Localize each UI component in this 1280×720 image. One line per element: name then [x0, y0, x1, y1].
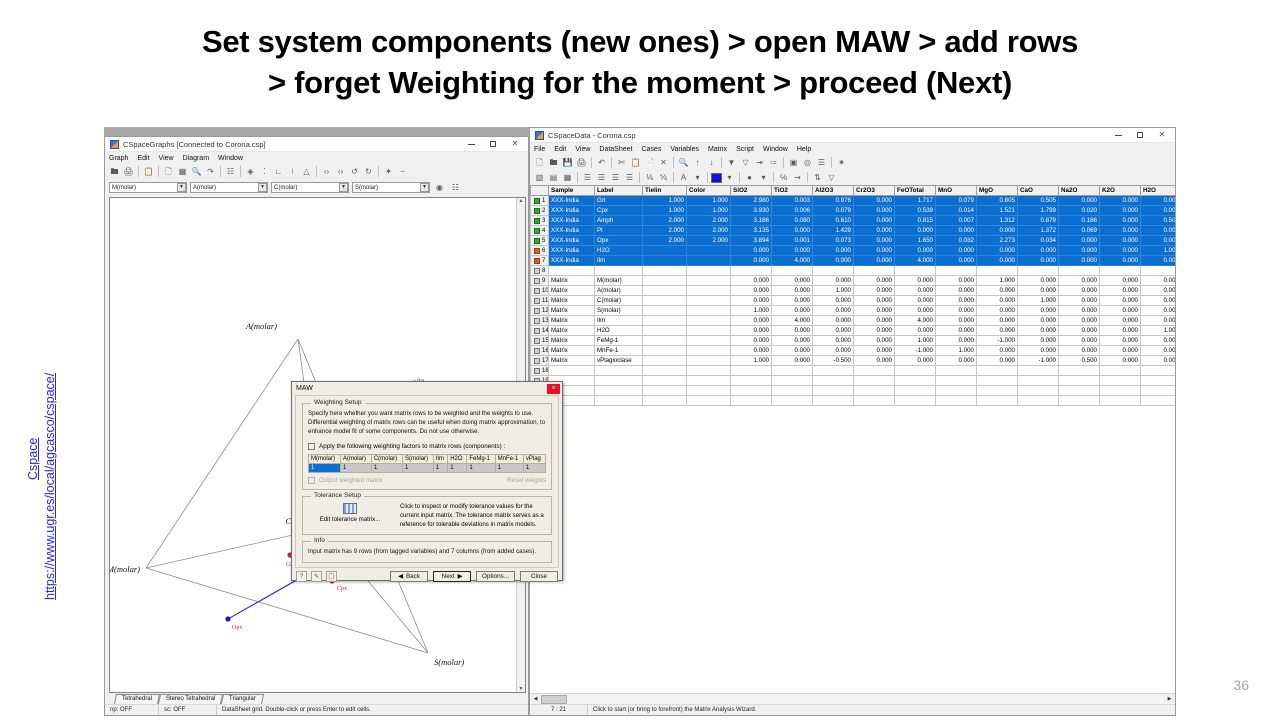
cell-value-5[interactable]: 0.000: [936, 326, 977, 336]
cell-value-7[interactable]: 0.000: [1018, 276, 1059, 286]
menu-edit[interactable]: Edit: [137, 155, 149, 162]
cell-value-1[interactable]: 0.000: [772, 276, 813, 286]
cell-value-1[interactable]: 4.000: [772, 256, 813, 266]
cell-value-5[interactable]: 0.000: [936, 306, 977, 316]
cell-value-2[interactable]: [813, 396, 854, 406]
tab-triangular[interactable]: Triangular: [221, 694, 264, 704]
open-icon[interactable]: 🖿: [547, 156, 560, 169]
cell-value-10[interactable]: [1141, 366, 1176, 376]
cell-value-6[interactable]: [977, 376, 1018, 386]
table-row[interactable]: 14MatrixH2O0.0000.0000.0000.0000.0000.00…: [531, 326, 1176, 336]
cell-value-8[interactable]: 0.000: [1059, 306, 1100, 316]
cell-value-8[interactable]: 0.000: [1059, 236, 1100, 246]
cell-value-4[interactable]: 4.000: [895, 256, 936, 266]
cell-sample[interactable]: Matrix: [549, 296, 595, 306]
cell-value-3[interactable]: 0.000: [854, 326, 895, 336]
cspacegraphs-toolbar[interactable]: 🖿 🖨 📋 🗋 ▦ 🔍 ↷ ☷ ◈ ⁚ ∟ ⁝ △ ‹› ‹› ↺ ↻ ✦ −: [105, 164, 528, 179]
cell-value-3[interactable]: 0.000: [854, 276, 895, 286]
col-cao[interactable]: CaO: [1018, 186, 1059, 196]
menu-script[interactable]: Script: [736, 146, 754, 153]
row-header[interactable]: 17: [531, 356, 549, 366]
col-sio2[interactable]: SiO2: [731, 186, 772, 196]
cspacedata-toolbar-row1[interactable]: 🗋 🖿 💾 🖨 ↶ ✄ 📋 📄 ✕ 🔍 ↑ ↓ ▼ ▽ ⇥ ⇨ ▣ ◎ ☰: [530, 155, 1175, 170]
cell-tielin[interactable]: [643, 366, 687, 376]
cell-color[interactable]: [687, 306, 731, 316]
table-row[interactable]: 7XXX-IndiaIlm0.0004.0000.0000.0004.0000.…: [531, 256, 1176, 266]
cell-tielin[interactable]: [643, 266, 687, 276]
cell-value-4[interactable]: 0.815: [895, 216, 936, 226]
menu-cases[interactable]: Cases: [641, 146, 661, 153]
cell-value-8[interactable]: [1059, 376, 1100, 386]
table-row[interactable]: 17MatrixvPlagioclase1.0000.000-0.5000.00…: [531, 356, 1176, 366]
cell-value-2[interactable]: 0.079: [813, 206, 854, 216]
cell-sample[interactable]: Matrix: [549, 276, 595, 286]
cell-value-5[interactable]: 0.014: [936, 206, 977, 216]
page-icon[interactable]: 🗋: [162, 165, 175, 178]
cell-value-1[interactable]: 0.000: [772, 226, 813, 236]
cell-label[interactable]: [595, 396, 643, 406]
cell-value-1[interactable]: [772, 376, 813, 386]
cell-value-6[interactable]: -1.000: [977, 336, 1018, 346]
table-row[interactable]: 18: [531, 366, 1176, 376]
weights-value-row[interactable]: 111111111: [309, 463, 546, 472]
cell-color[interactable]: [687, 386, 731, 396]
back-button[interactable]: ◀ Back: [390, 571, 428, 582]
transpose-icon[interactable]: ⇝: [791, 171, 804, 184]
cell-sample[interactable]: Matrix: [549, 306, 595, 316]
cell-value-6[interactable]: 0.000: [977, 306, 1018, 316]
cell-value-9[interactable]: [1100, 376, 1141, 386]
fill-color-swatch[interactable]: [711, 173, 722, 183]
points-icon[interactable]: ⁚: [258, 165, 271, 178]
cell-value-6[interactable]: 0.000: [977, 246, 1018, 256]
cell-value-3[interactable]: 0.000: [854, 206, 895, 216]
cell-value-5[interactable]: [936, 386, 977, 396]
cell-sample[interactable]: XXX-India: [549, 236, 595, 246]
cell-color[interactable]: [687, 286, 731, 296]
cell-value-3[interactable]: [854, 396, 895, 406]
cell-value-6[interactable]: 1.312: [977, 216, 1018, 226]
cell-value-6[interactable]: 2.273: [977, 236, 1018, 246]
cell-value-2[interactable]: 0.000: [813, 346, 854, 356]
cell-tielin[interactable]: [643, 376, 687, 386]
scroll-down-icon[interactable]: ▼: [519, 686, 524, 692]
projection-icon[interactable]: ◈: [244, 165, 257, 178]
cell-color[interactable]: [687, 356, 731, 366]
sort-desc-icon[interactable]: ↓: [705, 156, 718, 169]
output-weighted-row[interactable]: Output weighted matrix Reset weights: [308, 477, 546, 484]
cell-value-0[interactable]: 0.000: [731, 276, 772, 286]
cell-value-6[interactable]: 0.000: [977, 226, 1018, 236]
cell-value-4[interactable]: 0.000: [895, 246, 936, 256]
chevron-down-icon[interactable]: ▼: [420, 183, 429, 192]
col-label[interactable]: Label: [595, 186, 643, 196]
row-header[interactable]: 14: [531, 326, 549, 336]
cell-value-8[interactable]: 0.000: [1059, 256, 1100, 266]
cell-value-3[interactable]: [854, 386, 895, 396]
cell-value-4[interactable]: -1.000: [895, 346, 936, 356]
cspacedata-toolbar-row2[interactable]: ▧ ▤ ▦ ☰ ☰ ☰ ☰ ⅙ ⅚ A ▾ ▾ ● ▾ ℅ ⇝ ⇅ ▽: [530, 170, 1175, 185]
cell-value-5[interactable]: 0.079: [936, 196, 977, 206]
table-row[interactable]: 21: [531, 396, 1176, 406]
maw-wizard-icon[interactable]: ◎: [801, 156, 814, 169]
diagram-tabstrip[interactable]: Tetrahedral Stereo Tetrahedral Triangula…: [105, 693, 528, 704]
cell-value-7[interactable]: 0.000: [1018, 256, 1059, 266]
cell-value-1[interactable]: 0.000: [772, 286, 813, 296]
chevron-down-icon[interactable]: ▼: [258, 183, 267, 192]
cell-value-6[interactable]: 1.000: [977, 276, 1018, 286]
align-justify-icon[interactable]: ☰: [623, 171, 636, 184]
combo-m-molar[interactable]: M(molar) ▼: [109, 182, 187, 193]
cell-value-8[interactable]: [1059, 266, 1100, 276]
edit-tolerance-button[interactable]: Edit tolerance matrix...: [308, 503, 392, 523]
cell-value-2[interactable]: 0.000: [813, 326, 854, 336]
cell-color[interactable]: 2.000: [687, 236, 731, 246]
settings-icon[interactable]: ✎: [311, 571, 322, 582]
rotate-right-icon[interactable]: ‹›: [334, 165, 347, 178]
cell-value-4[interactable]: 1.717: [895, 196, 936, 206]
fit-icon[interactable]: ☷: [224, 165, 237, 178]
row-header[interactable]: 4: [531, 226, 549, 236]
cell-label[interactable]: Cpx: [595, 206, 643, 216]
cell-value-7[interactable]: 1.000: [1018, 296, 1059, 306]
cell-value-1[interactable]: 0.000: [772, 336, 813, 346]
cell-value-2[interactable]: 0.610: [813, 216, 854, 226]
cell-value-3[interactable]: 0.000: [854, 246, 895, 256]
cell-value-2[interactable]: 0.000: [813, 316, 854, 326]
matrix-icon[interactable]: ▣: [787, 156, 800, 169]
cell-value-6[interactable]: [977, 386, 1018, 396]
row-header[interactable]: 15: [531, 336, 549, 346]
cell-value-1[interactable]: 0.000: [772, 246, 813, 256]
cell-value-6[interactable]: 0.000: [977, 326, 1018, 336]
cell-value-0[interactable]: [731, 366, 772, 376]
print-icon[interactable]: 🖨: [122, 165, 135, 178]
cell-value-7[interactable]: 1.799: [1018, 206, 1059, 216]
cell-value-4[interactable]: 4.000: [895, 316, 936, 326]
cell-value-7[interactable]: [1018, 376, 1059, 386]
row-header[interactable]: 18: [531, 366, 549, 376]
cell-value-5[interactable]: 0.000: [936, 316, 977, 326]
menu-view[interactable]: View: [159, 155, 174, 162]
cell-sample[interactable]: Matrix: [549, 336, 595, 346]
new-icon[interactable]: 🗋: [533, 156, 546, 169]
scroll-left-icon[interactable]: ◀: [530, 695, 541, 704]
cell-label[interactable]: A(molar): [595, 286, 643, 296]
cell-label[interactable]: C(molar): [595, 296, 643, 306]
table-row[interactable]: 5XXX-IndiaOpx2.0002.0003.8940.0010.0730.…: [531, 236, 1176, 246]
copy-icon[interactable]: 📋: [326, 571, 337, 582]
combo-c-molar[interactable]: C(molar) ▼: [271, 182, 349, 193]
cell-value-1[interactable]: [772, 366, 813, 376]
cell-value-5[interactable]: 0.000: [936, 336, 977, 346]
menu-diagram[interactable]: Diagram: [183, 155, 209, 162]
cell-value-9[interactable]: 0.000: [1100, 286, 1141, 296]
cell-value-7[interactable]: [1018, 266, 1059, 276]
cell-value-0[interactable]: [731, 396, 772, 406]
undo-icon[interactable]: ↷: [204, 165, 217, 178]
cell-label[interactable]: [595, 386, 643, 396]
weight-value-7[interactable]: 1: [495, 463, 523, 472]
cell-value-7[interactable]: [1018, 396, 1059, 406]
apply-weights-checkbox[interactable]: [308, 443, 315, 450]
font-icon[interactable]: A: [677, 171, 690, 184]
insert-col-icon[interactable]: ⇥: [753, 156, 766, 169]
cell-value-3[interactable]: 0.000: [854, 306, 895, 316]
cell-value-9[interactable]: 0.000: [1100, 206, 1141, 216]
cell-sample[interactable]: [549, 266, 595, 276]
cell-value-1[interactable]: 0.006: [772, 206, 813, 216]
help-icon[interactable]: ?: [296, 571, 307, 582]
cell-label[interactable]: [595, 266, 643, 276]
cell-color[interactable]: [687, 346, 731, 356]
chevron-down-icon[interactable]: ▼: [339, 183, 348, 192]
cell-value-4[interactable]: [895, 376, 936, 386]
cell-value-8[interactable]: 0.020: [1059, 206, 1100, 216]
cell-value-3[interactable]: 0.000: [854, 346, 895, 356]
datasheet-horizontal-scrollbar[interactable]: ◀ ▶: [530, 693, 1175, 704]
cell-value-0[interactable]: 1.000: [731, 306, 772, 316]
cell-value-3[interactable]: 0.000: [854, 196, 895, 206]
cell-value-4[interactable]: [895, 396, 936, 406]
menu-graph[interactable]: Graph: [109, 155, 128, 162]
cell-value-3[interactable]: 0.000: [854, 296, 895, 306]
cell-value-9[interactable]: [1100, 386, 1141, 396]
cell-sample[interactable]: Matrix: [549, 356, 595, 366]
cell-value-7[interactable]: 0.000: [1018, 316, 1059, 326]
cell-color[interactable]: [687, 366, 731, 376]
cell-value-0[interactable]: 0.000: [731, 316, 772, 326]
table-row[interactable]: 13MatrixIlm0.0004.0000.0000.0004.0000.00…: [531, 316, 1176, 326]
cell-value-7[interactable]: 0.000: [1018, 286, 1059, 296]
scroll-up-icon[interactable]: ▲: [519, 198, 524, 204]
cell-value-5[interactable]: 0.000: [936, 286, 977, 296]
menu-file[interactable]: File: [534, 146, 545, 153]
cell-sample[interactable]: Matrix: [549, 316, 595, 326]
open-icon[interactable]: 🖿: [108, 165, 121, 178]
cell-value-9[interactable]: 0.000: [1100, 226, 1141, 236]
cell-value-9[interactable]: [1100, 366, 1141, 376]
cell-tielin[interactable]: [643, 276, 687, 286]
row-header[interactable]: 1: [531, 196, 549, 206]
cell-label[interactable]: Ilm: [595, 256, 643, 266]
cell-value-0[interactable]: 1.000: [731, 356, 772, 366]
cell-value-2[interactable]: [813, 376, 854, 386]
filter-icon[interactable]: ▼: [725, 156, 738, 169]
cell-value-6[interactable]: 0.000: [977, 286, 1018, 296]
cell-value-6[interactable]: 0.000: [977, 256, 1018, 266]
col-cr2o3[interactable]: Cr2O3: [854, 186, 895, 196]
cell-sample[interactable]: XXX-India: [549, 206, 595, 216]
cell-value-8[interactable]: [1059, 386, 1100, 396]
cell-value-5[interactable]: [936, 396, 977, 406]
cell-value-3[interactable]: 0.000: [854, 236, 895, 246]
cell-value-0[interactable]: 0.000: [731, 296, 772, 306]
print-icon[interactable]: 🖨: [575, 156, 588, 169]
cell-value-10[interactable]: 0.000: [1141, 316, 1176, 326]
cell-value-4[interactable]: 1.650: [895, 236, 936, 246]
cell-value-8[interactable]: [1059, 396, 1100, 406]
save-icon[interactable]: 💾: [561, 156, 574, 169]
cell-value-5[interactable]: 0.000: [936, 246, 977, 256]
cell-value-8[interactable]: 0.000: [1059, 246, 1100, 256]
rotate-left-icon[interactable]: ‹›: [320, 165, 333, 178]
cell-value-0[interactable]: [731, 376, 772, 386]
col-color[interactable]: Color: [687, 186, 731, 196]
cell-value-7[interactable]: -1.000: [1018, 356, 1059, 366]
cell-value-0[interactable]: 3.166: [731, 216, 772, 226]
cell-value-10[interactable]: 0.000: [1141, 236, 1176, 246]
cell-value-1[interactable]: 0.000: [772, 356, 813, 366]
cell-value-8[interactable]: 0.166: [1059, 216, 1100, 226]
cell-value-7[interactable]: 0.000: [1018, 326, 1059, 336]
cell-value-5[interactable]: 0.000: [936, 356, 977, 366]
cell-value-3[interactable]: [854, 366, 895, 376]
cell-value-4[interactable]: [895, 386, 936, 396]
cell-value-10[interactable]: 0.000: [1141, 336, 1176, 346]
filter-clear-icon[interactable]: ▽: [739, 156, 752, 169]
cell-value-2[interactable]: 1.429: [813, 226, 854, 236]
row-header[interactable]: 13: [531, 316, 549, 326]
cell-label[interactable]: M(molar): [595, 276, 643, 286]
menu-help[interactable]: Help: [797, 146, 811, 153]
tilt-up-icon[interactable]: ↺: [348, 165, 361, 178]
cell-value-1[interactable]: 0.001: [772, 236, 813, 246]
cell-label[interactable]: MnFe-1: [595, 346, 643, 356]
cell-tielin[interactable]: [643, 256, 687, 266]
datasheet-grid[interactable]: Sample Label Tielin Color SiO2 TiO2 Al2O…: [530, 185, 1175, 693]
cell-value-1[interactable]: 0.080: [772, 216, 813, 226]
copy-icon[interactable]: 📋: [142, 165, 155, 178]
cell-label[interactable]: [595, 376, 643, 386]
sort-asc-icon[interactable]: ↑: [691, 156, 704, 169]
decimal-increase-icon[interactable]: ⅙: [643, 171, 656, 184]
row-header[interactable]: 12: [531, 306, 549, 316]
cell-value-9[interactable]: [1100, 396, 1141, 406]
align-center-icon[interactable]: ☰: [595, 171, 608, 184]
cspace-url-link[interactable]: https://www.ugr.es/local/agcasco/cspace/: [43, 373, 57, 600]
cell-value-7[interactable]: 0.000: [1018, 246, 1059, 256]
cell-tielin[interactable]: [643, 336, 687, 346]
cell-value-0[interactable]: 0.000: [731, 286, 772, 296]
cell-value-10[interactable]: 0.000: [1141, 276, 1176, 286]
weights-table[interactable]: M(molar)A(molar)C(molar)S(molar)IlmH2OFe…: [308, 454, 546, 473]
weight-value-5[interactable]: 1: [448, 463, 467, 472]
cell-value-1[interactable]: 0.000: [772, 296, 813, 306]
marker-size-icon[interactable]: ●: [743, 171, 756, 184]
cell-value-0[interactable]: 0.000: [731, 246, 772, 256]
cell-tielin[interactable]: [643, 356, 687, 366]
cell-value-5[interactable]: 1.000: [936, 346, 977, 356]
cell-value-6[interactable]: [977, 266, 1018, 276]
cell-tielin[interactable]: [643, 246, 687, 256]
script-icon[interactable]: ⁕: [835, 156, 848, 169]
columns-icon[interactable]: ▦: [561, 171, 574, 184]
weight-value-3[interactable]: 1: [403, 463, 434, 472]
cell-color[interactable]: [687, 336, 731, 346]
cell-value-3[interactable]: 0.000: [854, 316, 895, 326]
cell-color[interactable]: 2.000: [687, 226, 731, 236]
cell-value-9[interactable]: 0.000: [1100, 326, 1141, 336]
cell-tielin[interactable]: [643, 316, 687, 326]
hscroll-thumb[interactable]: [541, 695, 567, 704]
cell-value-10[interactable]: 0.000: [1141, 356, 1176, 366]
cell-value-9[interactable]: 0.000: [1100, 216, 1141, 226]
cell-value-0[interactable]: 0.000: [731, 326, 772, 336]
minimize-button[interactable]: [460, 137, 482, 151]
cspacegraphs-menubar[interactable]: Graph Edit View Diagram Window: [105, 152, 528, 164]
cell-value-9[interactable]: 0.000: [1100, 196, 1141, 206]
cell-tielin[interactable]: 2.000: [643, 236, 687, 246]
cell-value-6[interactable]: 0.000: [977, 356, 1018, 366]
close-icon[interactable]: ×: [547, 384, 560, 394]
cell-value-7[interactable]: [1018, 366, 1059, 376]
cell-tielin[interactable]: [643, 296, 687, 306]
cell-value-8[interactable]: 0.000: [1059, 276, 1100, 286]
reset-weights-button[interactable]: Reset weights: [507, 477, 546, 484]
col-mno[interactable]: MnO: [936, 186, 977, 196]
row-header[interactable]: 9: [531, 276, 549, 286]
cell-value-10[interactable]: 1.000: [1141, 246, 1176, 256]
cell-value-8[interactable]: 0.000: [1059, 316, 1100, 326]
close-icon[interactable]: ✕: [1151, 128, 1173, 142]
table-row[interactable]: 2XXX-IndiaCpx1.0001.0003.9300.0060.0790.…: [531, 206, 1176, 216]
col-sample[interactable]: Sample: [549, 186, 595, 196]
cell-value-4[interactable]: 0.000: [895, 226, 936, 236]
cell-value-0[interactable]: [731, 266, 772, 276]
tab-tetrahedral[interactable]: Tetrahedral: [114, 694, 160, 704]
cell-label[interactable]: Ilm: [595, 316, 643, 326]
cell-value-9[interactable]: 0.000: [1100, 256, 1141, 266]
cell-value-9[interactable]: 0.000: [1100, 276, 1141, 286]
cell-value-1[interactable]: 0.000: [772, 326, 813, 336]
cell-sample[interactable]: XXX-India: [549, 226, 595, 236]
table-row[interactable]: 10MatrixA(molar)0.0000.0001.0000.0000.00…: [531, 286, 1176, 296]
cell-value-9[interactable]: 0.000: [1100, 306, 1141, 316]
cell-value-10[interactable]: 0.000: [1141, 226, 1176, 236]
cell-value-2[interactable]: 0.073: [813, 236, 854, 246]
hscroll-track[interactable]: [541, 695, 1164, 704]
cell-value-3[interactable]: 0.000: [854, 216, 895, 226]
cell-color[interactable]: [687, 376, 731, 386]
cell-label[interactable]: vPlagioclase: [595, 356, 643, 366]
marker-icon[interactable]: ✦: [382, 165, 395, 178]
cell-value-9[interactable]: 0.000: [1100, 296, 1141, 306]
cell-value-2[interactable]: 0.000: [813, 306, 854, 316]
cell-color[interactable]: [687, 256, 731, 266]
align-left-icon[interactable]: ☰: [581, 171, 594, 184]
cell-value-6[interactable]: 0.000: [977, 346, 1018, 356]
cell-value-2[interactable]: -0.500: [813, 356, 854, 366]
cell-sample[interactable]: [549, 366, 595, 376]
cell-value-9[interactable]: 0.000: [1100, 336, 1141, 346]
combo-a-molar[interactable]: A(molar) ▼: [190, 182, 268, 193]
cell-label[interactable]: [595, 366, 643, 376]
row-header[interactable]: 6: [531, 246, 549, 256]
cell-tielin[interactable]: 1.000: [643, 196, 687, 206]
row-header[interactable]: 3: [531, 216, 549, 226]
menu-matrix[interactable]: Matrix: [708, 146, 727, 153]
cell-value-0[interactable]: 2.980: [731, 196, 772, 206]
table-row[interactable]: 9MatrixM(molar)0.0000.0000.0000.0000.000…: [531, 276, 1176, 286]
cell-value-2[interactable]: [813, 266, 854, 276]
cell-tielin[interactable]: 2.000: [643, 216, 687, 226]
points-color-icon[interactable]: ⁝: [286, 165, 299, 178]
cell-value-2[interactable]: [813, 386, 854, 396]
cell-sample[interactable]: XXX-India: [549, 216, 595, 226]
close-icon[interactable]: ✕: [504, 137, 526, 151]
tilt-down-icon[interactable]: ↻: [362, 165, 375, 178]
